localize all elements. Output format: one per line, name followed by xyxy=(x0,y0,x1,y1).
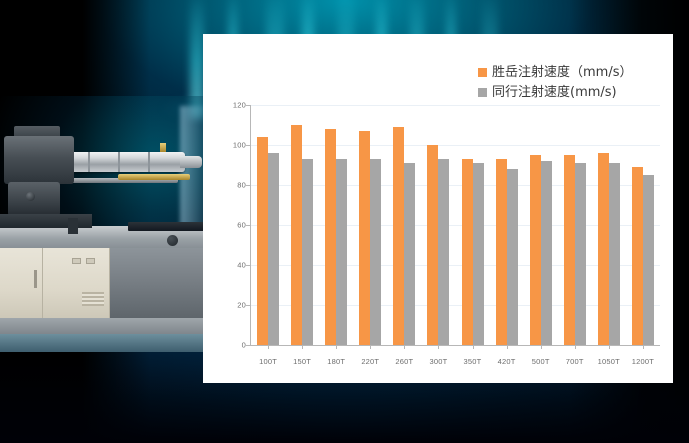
bar xyxy=(302,159,313,345)
x-tick: 1200T xyxy=(626,345,660,366)
y-tick-label: 120 xyxy=(213,101,246,110)
x-tick-mark xyxy=(404,345,405,349)
bar xyxy=(438,159,449,345)
bar xyxy=(473,163,484,345)
bar xyxy=(427,145,438,345)
x-tick-mark xyxy=(336,345,337,349)
x-tick-mark xyxy=(643,345,644,349)
x-tick-mark xyxy=(473,345,474,349)
bar xyxy=(575,163,586,345)
bar xyxy=(564,155,575,345)
bar-group xyxy=(353,105,387,345)
y-tick-label: 100 xyxy=(213,141,246,150)
x-axis-ticks: 100T150T180T220T260T300T350T420T500T700T… xyxy=(251,345,660,366)
x-tick: 220T xyxy=(353,345,387,366)
y-tick-label: 20 xyxy=(213,301,246,310)
bar-group xyxy=(285,105,319,345)
bar xyxy=(609,163,620,345)
bar-group xyxy=(387,105,421,345)
bar xyxy=(393,127,404,345)
x-tick: 700T xyxy=(558,345,592,366)
y-tick-label: 60 xyxy=(213,221,246,230)
bar xyxy=(291,125,302,345)
slide-canvas: 胜岳注射速度（mm/s） 同行注射速度(mm/s) 02040608010012… xyxy=(0,0,689,443)
x-tick-mark xyxy=(507,345,508,349)
x-tick: 260T xyxy=(387,345,421,366)
bar-group xyxy=(421,105,455,345)
bar xyxy=(404,163,415,345)
x-tick-mark xyxy=(575,345,576,349)
bar xyxy=(598,153,609,345)
bar-group xyxy=(455,105,489,345)
bar xyxy=(257,137,268,345)
bar xyxy=(370,159,381,345)
bar xyxy=(507,169,518,345)
x-tick: 300T xyxy=(421,345,455,366)
y-tick-label: 40 xyxy=(213,261,246,270)
x-tick: 500T xyxy=(524,345,558,366)
bar-group xyxy=(558,105,592,345)
y-tick-label: 0 xyxy=(213,341,246,350)
x-tick: 100T xyxy=(251,345,285,366)
x-tick-mark xyxy=(541,345,542,349)
x-tick-mark xyxy=(268,345,269,349)
x-tick-mark xyxy=(302,345,303,349)
x-tick: 150T xyxy=(285,345,319,366)
bar xyxy=(336,159,347,345)
x-tick-mark xyxy=(370,345,371,349)
injection-molding-machine-photo xyxy=(0,96,206,352)
bar-group xyxy=(524,105,558,345)
bar-groups xyxy=(251,105,660,345)
x-tick: 420T xyxy=(490,345,524,366)
bar xyxy=(268,153,279,345)
x-tick-mark xyxy=(609,345,610,349)
bar xyxy=(325,129,336,345)
bar-group xyxy=(319,105,353,345)
bar xyxy=(632,167,643,345)
bar xyxy=(530,155,541,345)
bar-group xyxy=(592,105,626,345)
bar-chart-plot: 020406080100120 100T150T180T220T260T300T… xyxy=(203,34,673,383)
y-tick-label: 80 xyxy=(213,181,246,190)
bar xyxy=(462,159,473,345)
x-tick: 350T xyxy=(455,345,489,366)
bar-group xyxy=(251,105,285,345)
bar-group xyxy=(490,105,524,345)
bar xyxy=(359,131,370,345)
x-tick: 180T xyxy=(319,345,353,366)
chart-panel: 胜岳注射速度（mm/s） 同行注射速度(mm/s) 02040608010012… xyxy=(203,34,673,383)
x-tick-mark xyxy=(438,345,439,349)
bar xyxy=(496,159,507,345)
bar xyxy=(541,161,552,345)
bar-group xyxy=(626,105,660,345)
bar xyxy=(643,175,654,345)
x-tick: 1050T xyxy=(592,345,626,366)
